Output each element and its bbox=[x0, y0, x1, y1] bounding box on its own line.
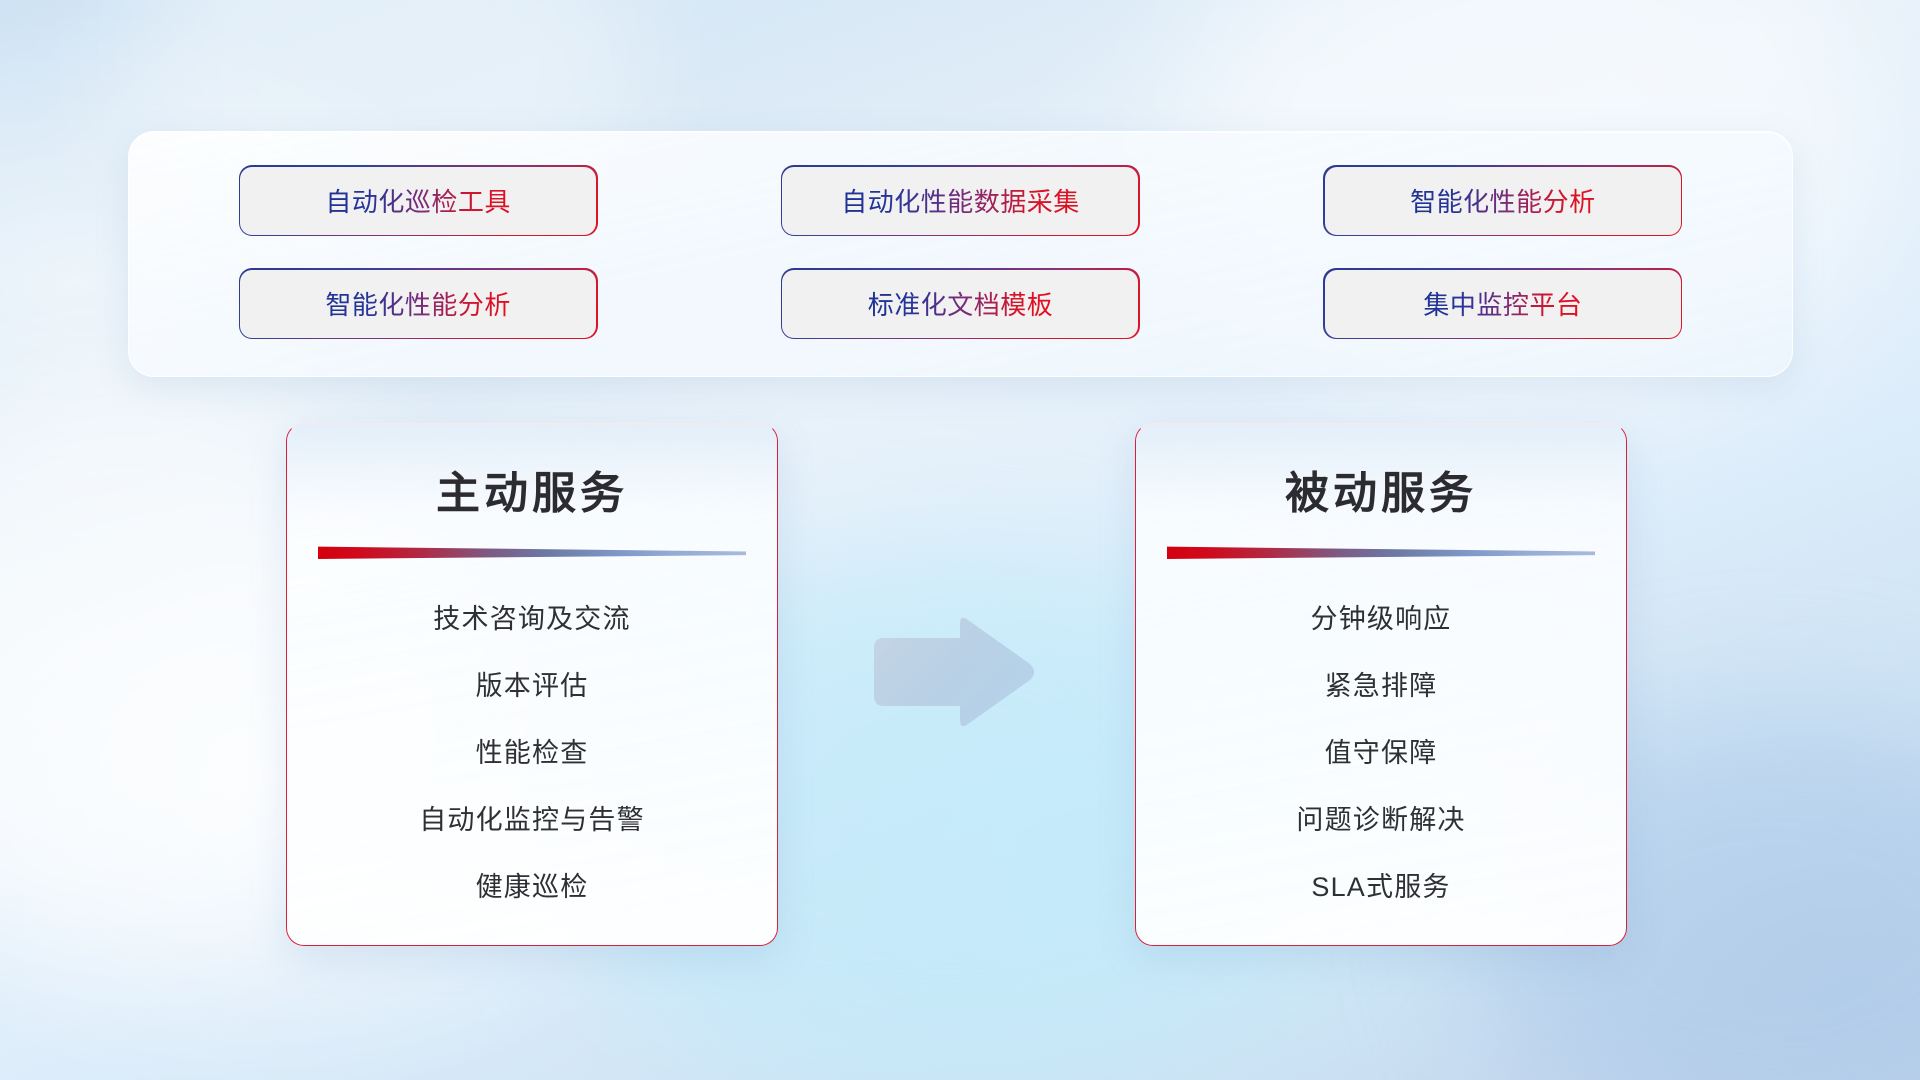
service-list: 技术咨询及交流 版本评估 性能检查 自动化监控与告警 健康巡检 bbox=[287, 597, 777, 904]
capability-tag-3[interactable]: 智能化性能分析 bbox=[1325, 167, 1681, 235]
arrow-right-icon bbox=[868, 612, 1038, 732]
card-title-divider bbox=[318, 545, 746, 559]
list-item: SLA式服务 bbox=[1311, 865, 1450, 904]
capability-tag-label: 自动化巡检工具 bbox=[325, 182, 511, 219]
list-item: 分钟级响应 bbox=[1311, 597, 1452, 636]
list-item: 值守保障 bbox=[1325, 731, 1438, 770]
list-item: 技术咨询及交流 bbox=[433, 597, 630, 636]
slide-canvas: 自动化巡检工具 自动化性能数据采集 智能化性能分析 智能化性能分析 标准化文档模… bbox=[0, 0, 1920, 1080]
capability-tag-5[interactable]: 标准化文档模板 bbox=[782, 270, 1138, 338]
card-title-divider bbox=[1167, 545, 1595, 559]
list-item: 性能检查 bbox=[476, 731, 589, 770]
capability-tag-label: 智能化性能分析 bbox=[325, 285, 511, 322]
card-title: 被动服务 bbox=[1136, 457, 1626, 521]
service-card-passive[interactable]: 被动服务 分钟级响应 紧急排障 值守保障 问题诊断解决 SLA式服务 bbox=[1135, 423, 1627, 946]
list-item: 自动化监控与告警 bbox=[419, 798, 645, 837]
capability-tags-panel: 自动化巡检工具 自动化性能数据采集 智能化性能分析 智能化性能分析 标准化文档模… bbox=[128, 131, 1793, 377]
capability-tag-1[interactable]: 自动化巡检工具 bbox=[240, 167, 596, 235]
gradient-rule bbox=[1167, 545, 1595, 559]
card-title: 主动服务 bbox=[287, 457, 777, 521]
capability-tag-2[interactable]: 自动化性能数据采集 bbox=[782, 167, 1138, 235]
capability-tag-6[interactable]: 集中监控平台 bbox=[1325, 270, 1681, 338]
capability-tag-label: 智能化性能分析 bbox=[1410, 182, 1596, 219]
list-item: 版本评估 bbox=[476, 664, 589, 703]
list-item: 紧急排障 bbox=[1325, 664, 1438, 703]
service-list: 分钟级响应 紧急排障 值守保障 问题诊断解决 SLA式服务 bbox=[1136, 597, 1626, 904]
list-item: 问题诊断解决 bbox=[1296, 798, 1465, 837]
capability-tag-label: 标准化文档模板 bbox=[868, 285, 1054, 322]
service-card-active[interactable]: 主动服务 技术咨询及交流 版本评估 性能检查 自动化监控与告警 健康巡检 bbox=[286, 423, 778, 946]
capability-tag-label: 集中监控平台 bbox=[1423, 285, 1582, 322]
capability-tag-4[interactable]: 智能化性能分析 bbox=[240, 270, 596, 338]
gradient-rule bbox=[318, 545, 746, 559]
list-item: 健康巡检 bbox=[476, 865, 589, 904]
capability-tag-label: 自动化性能数据采集 bbox=[841, 182, 1080, 219]
